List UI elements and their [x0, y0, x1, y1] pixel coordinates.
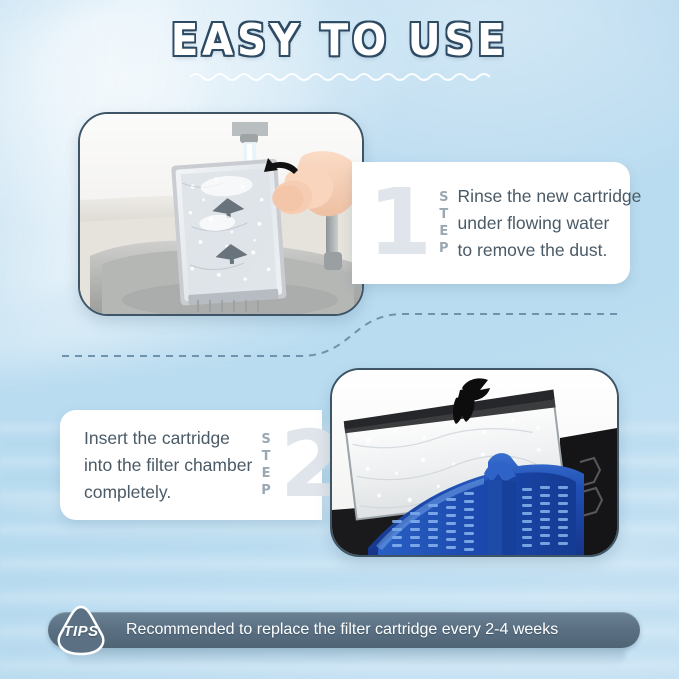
- step-1-text-panel: 1 S T E P Rinse the new cartridge under …: [352, 162, 630, 284]
- step-1-line-2: under flowing water: [458, 210, 642, 237]
- tips-text: Recommended to replace the filter cartri…: [126, 621, 558, 639]
- step-2-letter-p: P: [261, 482, 271, 499]
- step-1-step-label: S T E P: [439, 189, 449, 257]
- step-2-photo: [332, 370, 617, 555]
- step-2-letter-e: E: [261, 465, 271, 482]
- infographic-page: EASY TO USE: [0, 0, 679, 679]
- step-2-text-panel: Insert the cartridge into the filter cha…: [60, 410, 322, 520]
- step-1-letter-t: T: [439, 206, 449, 223]
- title-wave-underline: [190, 70, 490, 82]
- step-1-line-1: Rinse the new cartridge: [458, 183, 642, 210]
- step-2-line-3: completely.: [84, 479, 252, 506]
- step-1-photo-card: [78, 112, 364, 316]
- step-1-letter-s: S: [439, 189, 449, 206]
- tips-badge-icon: [52, 604, 110, 658]
- page-title: EASY TO USE: [171, 18, 509, 64]
- step-2-letter-t: T: [261, 448, 271, 465]
- tips-bar-reflection: [66, 650, 626, 666]
- step-1-line-3: to remove the dust.: [458, 237, 642, 264]
- page-title-area: EASY TO USE: [0, 18, 679, 82]
- step-1-description: Rinse the new cartridge under flowing wa…: [458, 183, 642, 264]
- step-2-step-label: S T E P: [261, 431, 271, 499]
- step-2-line-2: into the filter chamber: [84, 452, 252, 479]
- step-2-description: Insert the cartridge into the filter cha…: [84, 425, 252, 506]
- step-1-letter-p: P: [439, 240, 449, 257]
- step-2-photo-card: [330, 368, 619, 557]
- step-1-letter-e: E: [439, 223, 449, 240]
- step-1-number: 1: [368, 177, 430, 269]
- tips-bar: Recommended to replace the filter cartri…: [48, 612, 640, 648]
- step-2-letter-s: S: [261, 431, 271, 448]
- step-1-photo: [80, 114, 362, 314]
- step-2-line-1: Insert the cartridge: [84, 425, 252, 452]
